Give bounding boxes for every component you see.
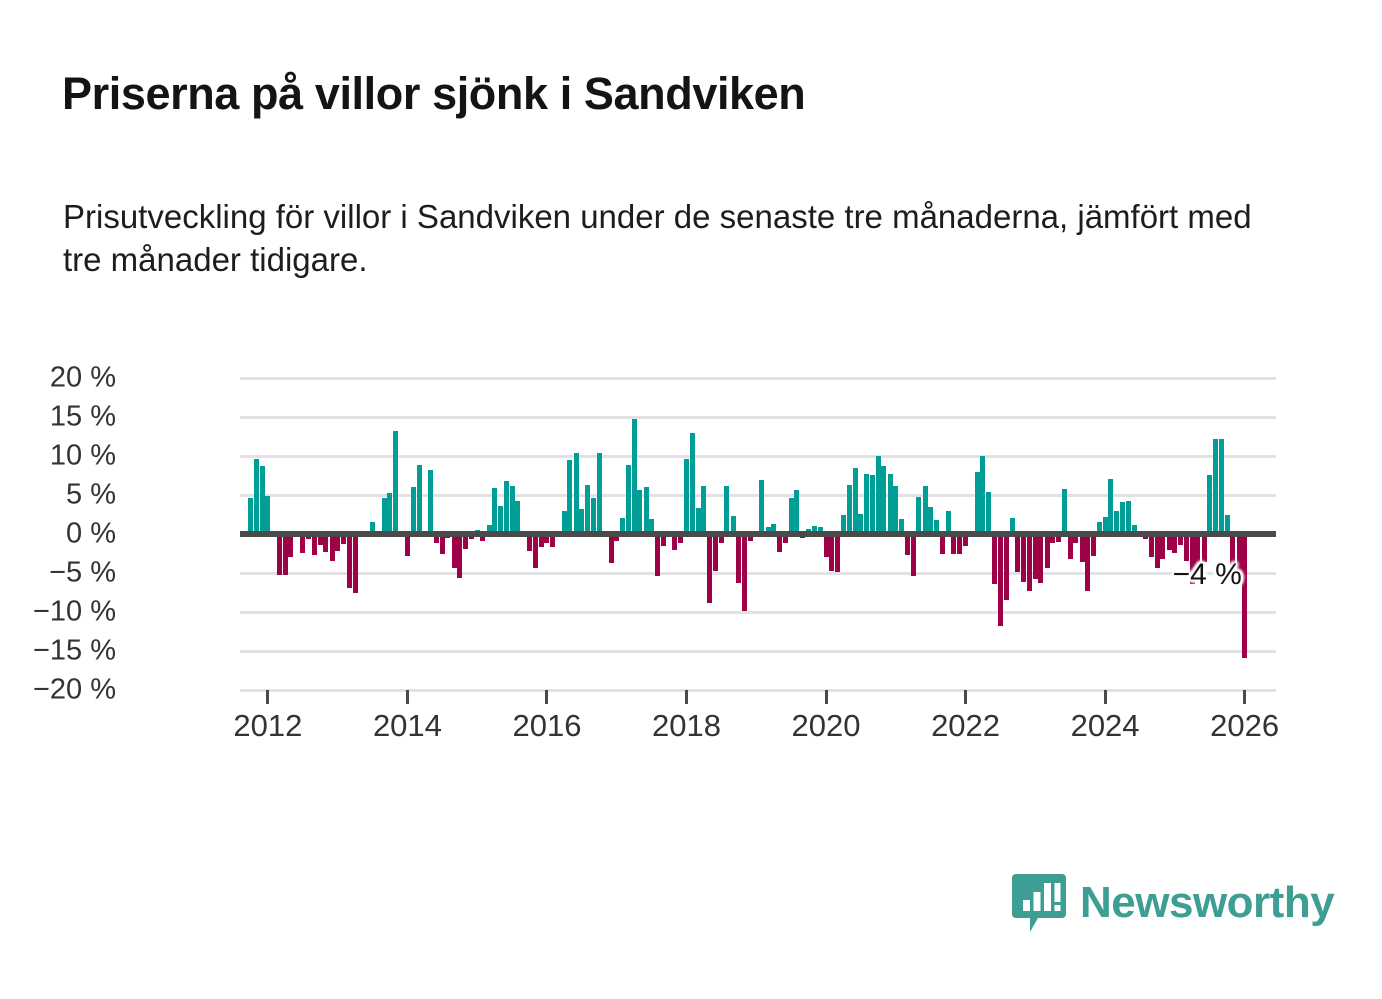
bar	[829, 534, 834, 571]
bar	[254, 459, 259, 534]
bar	[1155, 534, 1160, 568]
gridline	[240, 572, 1276, 575]
bar	[248, 498, 253, 534]
bar	[905, 534, 910, 555]
bar	[707, 534, 712, 603]
bar	[847, 485, 852, 534]
bar	[957, 534, 962, 554]
gridline	[240, 416, 1276, 419]
x-axis-tick	[825, 690, 828, 704]
x-axis-tick-label: 2026	[1210, 708, 1279, 744]
bar	[1149, 534, 1154, 557]
x-axis-tick-label: 2016	[512, 708, 581, 744]
y-axis-tick-label: −5 %	[0, 557, 116, 590]
bar	[713, 534, 718, 571]
bar	[1068, 534, 1073, 559]
logo-wordmark: Newsworthy	[1080, 881, 1334, 925]
bar	[574, 453, 579, 534]
bar	[893, 486, 898, 534]
x-axis-tick-label: 2014	[373, 708, 442, 744]
y-axis-tick-label: 10 %	[0, 440, 116, 473]
bar	[940, 534, 945, 554]
bar	[1120, 502, 1125, 534]
bar	[655, 534, 660, 576]
bar	[498, 506, 503, 534]
bar	[1160, 534, 1165, 559]
bar	[824, 534, 829, 557]
x-axis-tick-label: 2024	[1071, 708, 1140, 744]
bar	[644, 487, 649, 534]
gridline	[240, 611, 1276, 614]
bar	[515, 501, 520, 534]
gridline	[240, 650, 1276, 653]
x-axis-tick	[1243, 690, 1246, 704]
bar	[1033, 534, 1038, 579]
bar	[1213, 439, 1218, 534]
bar	[1085, 534, 1090, 591]
bar	[585, 485, 590, 534]
bar	[265, 496, 270, 534]
bar	[626, 465, 631, 534]
bar	[1038, 534, 1043, 583]
x-axis-tick-label: 2012	[233, 708, 302, 744]
bar	[975, 472, 980, 534]
bar	[597, 453, 602, 534]
y-axis-tick-label: −20 %	[0, 674, 116, 707]
x-axis-tick-label: 2018	[652, 708, 721, 744]
bar	[1045, 534, 1050, 568]
y-axis-tick-label: 20 %	[0, 362, 116, 395]
bar	[567, 460, 572, 534]
x-axis-tick	[685, 690, 688, 704]
x-axis-tick-label: 2022	[931, 708, 1000, 744]
chart-page: Priserna på villor sjönk i Sandviken Pri…	[0, 0, 1382, 999]
bar	[1004, 534, 1009, 600]
plot-area: 20 %15 %10 %5 %0 %−5 %−10 %−15 %−20 %201…	[240, 378, 1276, 690]
bar	[742, 534, 747, 611]
bar	[277, 534, 282, 575]
bar	[876, 456, 881, 534]
bar	[864, 474, 869, 534]
newsworthy-logo[interactable]: Newsworthy	[1012, 872, 1334, 934]
bar	[789, 498, 794, 534]
bar	[870, 475, 875, 534]
bar	[1027, 534, 1032, 591]
bar	[1080, 534, 1085, 562]
bar	[835, 534, 840, 572]
bar	[387, 493, 392, 534]
bar	[330, 534, 335, 561]
bar	[794, 490, 799, 534]
bar	[1126, 501, 1131, 534]
bar	[1108, 479, 1113, 534]
y-axis-tick-label: 5 %	[0, 479, 116, 512]
bar	[347, 534, 352, 588]
bar	[684, 459, 689, 534]
y-axis-tick-label: 15 %	[0, 401, 116, 434]
gridline	[240, 377, 1276, 380]
bar	[288, 534, 293, 557]
x-axis-tick	[545, 690, 548, 704]
bar	[1184, 534, 1189, 561]
bar	[591, 498, 596, 534]
bar	[632, 419, 637, 534]
bar	[980, 456, 985, 534]
bar	[998, 534, 1003, 626]
y-axis-tick-label: −10 %	[0, 596, 116, 629]
bar	[853, 468, 858, 534]
bar	[260, 466, 265, 534]
bar	[923, 486, 928, 534]
bar	[690, 433, 695, 534]
bar	[457, 534, 462, 578]
x-axis-tick	[964, 690, 967, 704]
x-axis-tick	[266, 690, 269, 704]
bar	[417, 465, 422, 534]
bar	[1207, 475, 1212, 534]
bar-chart-speech-bubble-icon	[1012, 872, 1066, 934]
x-axis-tick-label: 2020	[792, 708, 861, 744]
bar	[1091, 534, 1096, 556]
bar	[916, 497, 921, 534]
bar	[1062, 489, 1067, 534]
y-axis-tick-label: 0 %	[0, 518, 116, 551]
bar	[452, 534, 457, 568]
bar	[393, 431, 398, 534]
bar	[1242, 534, 1247, 658]
bar	[986, 492, 991, 534]
value-annotation: −4 %	[1173, 558, 1242, 592]
bar	[382, 498, 387, 534]
bar	[992, 534, 997, 584]
bar	[1021, 534, 1026, 582]
x-axis-tick	[1104, 690, 1107, 704]
x-axis-tick	[406, 690, 409, 704]
bar	[736, 534, 741, 583]
bar	[428, 470, 433, 534]
bar	[911, 534, 916, 576]
bar	[759, 480, 764, 534]
bar	[504, 481, 509, 534]
bar	[881, 466, 886, 534]
bar	[411, 487, 416, 534]
bar	[609, 534, 614, 563]
zero-axis-line	[240, 531, 1276, 537]
bar	[928, 507, 933, 534]
bar	[353, 534, 358, 593]
bar	[637, 490, 642, 534]
bar	[701, 486, 706, 534]
bar	[283, 534, 288, 575]
bar	[312, 534, 317, 555]
bar	[888, 474, 893, 534]
y-axis-tick-label: −15 %	[0, 635, 116, 668]
bar	[533, 534, 538, 568]
bar	[510, 486, 515, 534]
bar	[405, 534, 410, 556]
bar	[492, 488, 497, 534]
bar	[1015, 534, 1020, 572]
bar	[1219, 439, 1224, 534]
bar-chart: 20 %15 %10 %5 %0 %−5 %−10 %−15 %−20 %201…	[0, 0, 1382, 999]
bar	[724, 486, 729, 534]
gridline	[240, 689, 1276, 692]
